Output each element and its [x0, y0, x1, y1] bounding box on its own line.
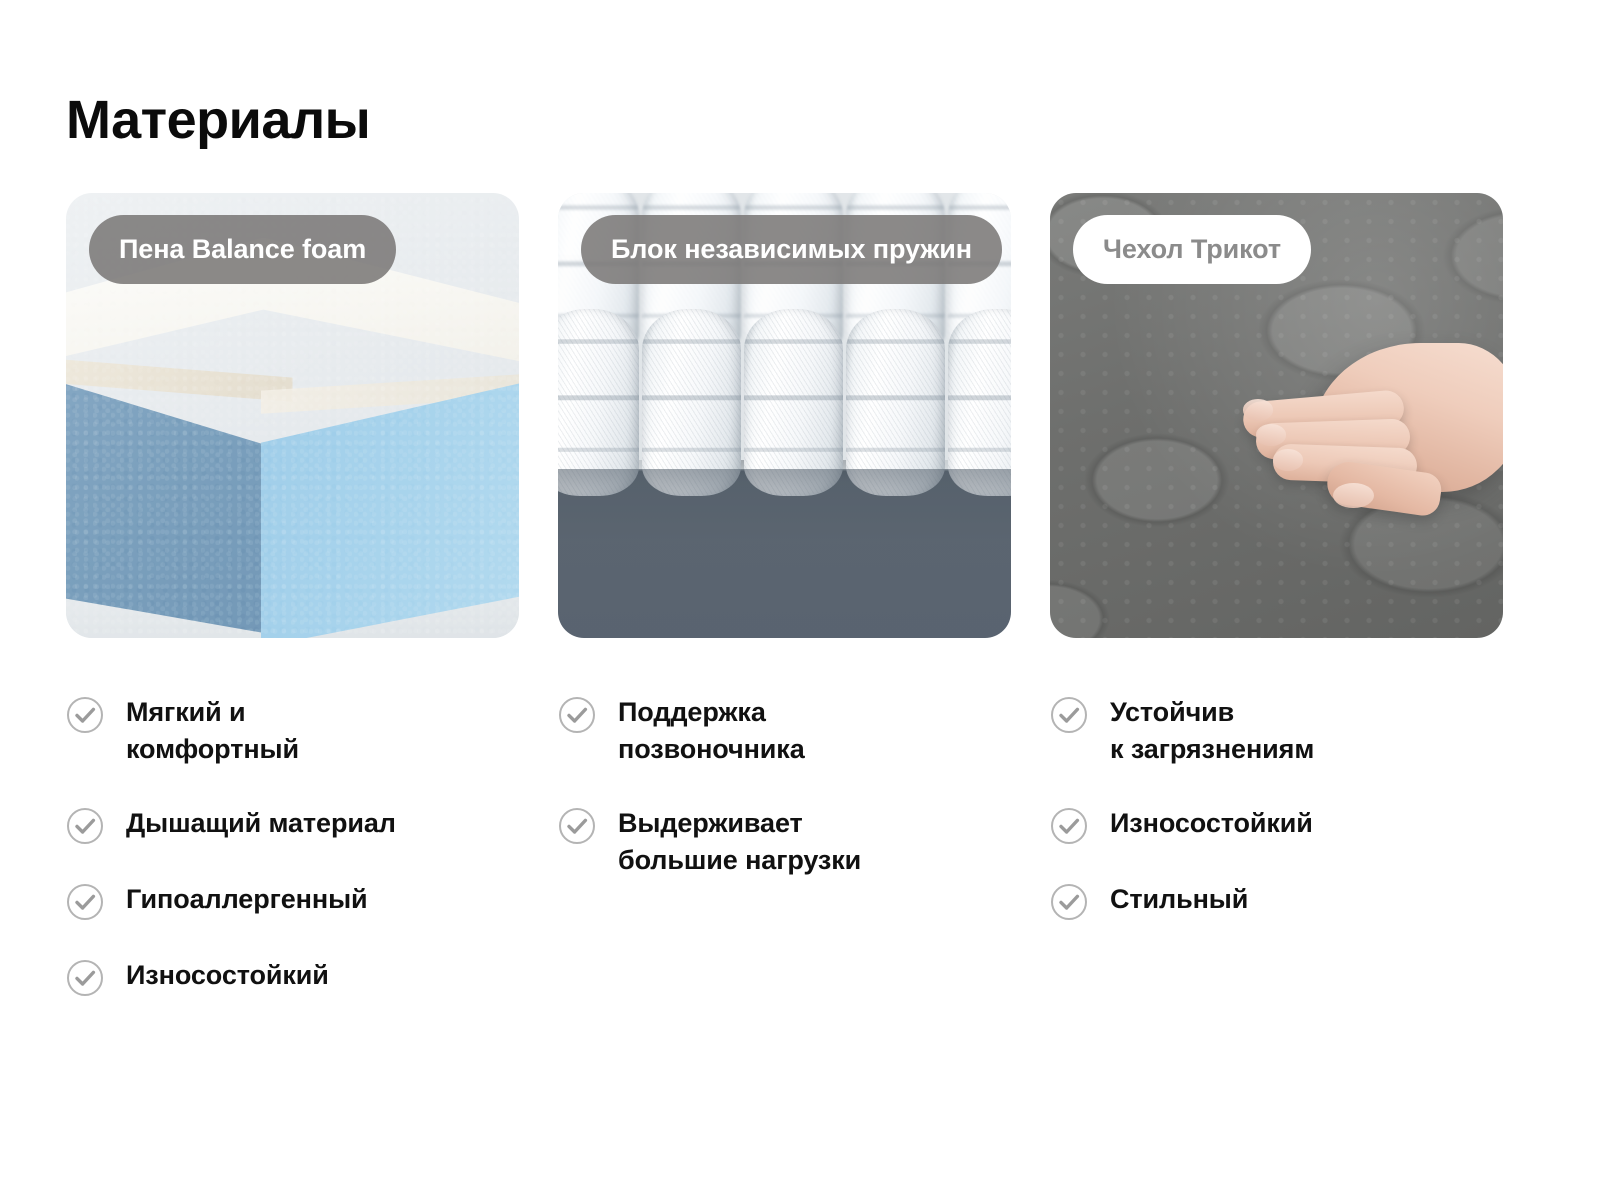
feature-label: Мягкий и комфортный	[126, 694, 299, 769]
material-card-foam[interactable]: Пена Balance foam	[66, 193, 519, 638]
check-circle-icon	[558, 807, 596, 845]
feature-label: Гипоаллергенный	[126, 881, 368, 918]
material-card-cover[interactable]: Чехол Трикот	[1050, 193, 1503, 638]
list-item: Стильный	[1050, 881, 1503, 921]
feature-label: Стильный	[1110, 881, 1248, 918]
feature-label: Устойчив к загрязнениям	[1110, 694, 1314, 769]
spring-coil	[948, 309, 1011, 496]
list-item: Дышащий материал	[66, 805, 519, 845]
spring-coil	[846, 309, 945, 496]
check-circle-icon	[1050, 883, 1088, 921]
list-item: Износостойкий	[66, 957, 519, 997]
hand-nail	[1273, 449, 1303, 470]
check-circle-icon	[66, 883, 104, 921]
feature-label: Дышащий материал	[126, 805, 396, 842]
check-circle-icon	[66, 696, 104, 734]
material-badge-foam: Пена Balance foam	[89, 215, 396, 284]
feature-label: Износостойкий	[126, 957, 329, 994]
feature-columns: Мягкий и комфортный Дышащий материал	[66, 694, 1536, 1033]
spring-coil	[558, 309, 639, 496]
check-circle-icon	[66, 807, 104, 845]
feature-column-springs: Поддержка позвоночника Выдерживает больш…	[558, 694, 1011, 1033]
spring-coil	[642, 309, 741, 496]
feature-column-foam: Мягкий и комфортный Дышащий материал	[66, 694, 519, 1033]
spring-row-front	[558, 309, 1011, 496]
list-item: Мягкий и комфортный	[66, 694, 519, 769]
material-card-springs[interactable]: Блок независимых пружин	[558, 193, 1011, 638]
list-item: Износостойкий	[1050, 805, 1503, 845]
hand-illustration	[1186, 335, 1503, 513]
hand-nail	[1256, 424, 1286, 445]
material-cards-row: Пена Balance foam	[66, 193, 1536, 638]
list-item: Устойчив к загрязнениям	[1050, 694, 1503, 769]
materials-page: Материалы Пена Balance foam	[0, 0, 1600, 1200]
material-badge-springs: Блок независимых пружин	[581, 215, 1002, 284]
feature-label: Поддержка позвоночника	[618, 694, 805, 769]
check-circle-icon	[1050, 807, 1088, 845]
page-title: Материалы	[66, 92, 370, 149]
list-item: Гипоаллергенный	[66, 881, 519, 921]
spring-floor	[558, 469, 1011, 638]
check-circle-icon	[1050, 696, 1088, 734]
material-badge-cover: Чехол Трикот	[1073, 215, 1311, 284]
hand-nail	[1243, 399, 1273, 420]
list-item: Поддержка позвоночника	[558, 694, 1011, 769]
check-circle-icon	[558, 696, 596, 734]
feature-label: Износостойкий	[1110, 805, 1313, 842]
feature-label: Выдерживает большие нагрузки	[618, 805, 861, 880]
feature-column-cover: Устойчив к загрязнениям Износостойкий	[1050, 694, 1503, 1033]
hand-nail	[1333, 483, 1373, 508]
check-circle-icon	[66, 959, 104, 997]
spring-coil	[744, 309, 843, 496]
list-item: Выдерживает большие нагрузки	[558, 805, 1011, 880]
